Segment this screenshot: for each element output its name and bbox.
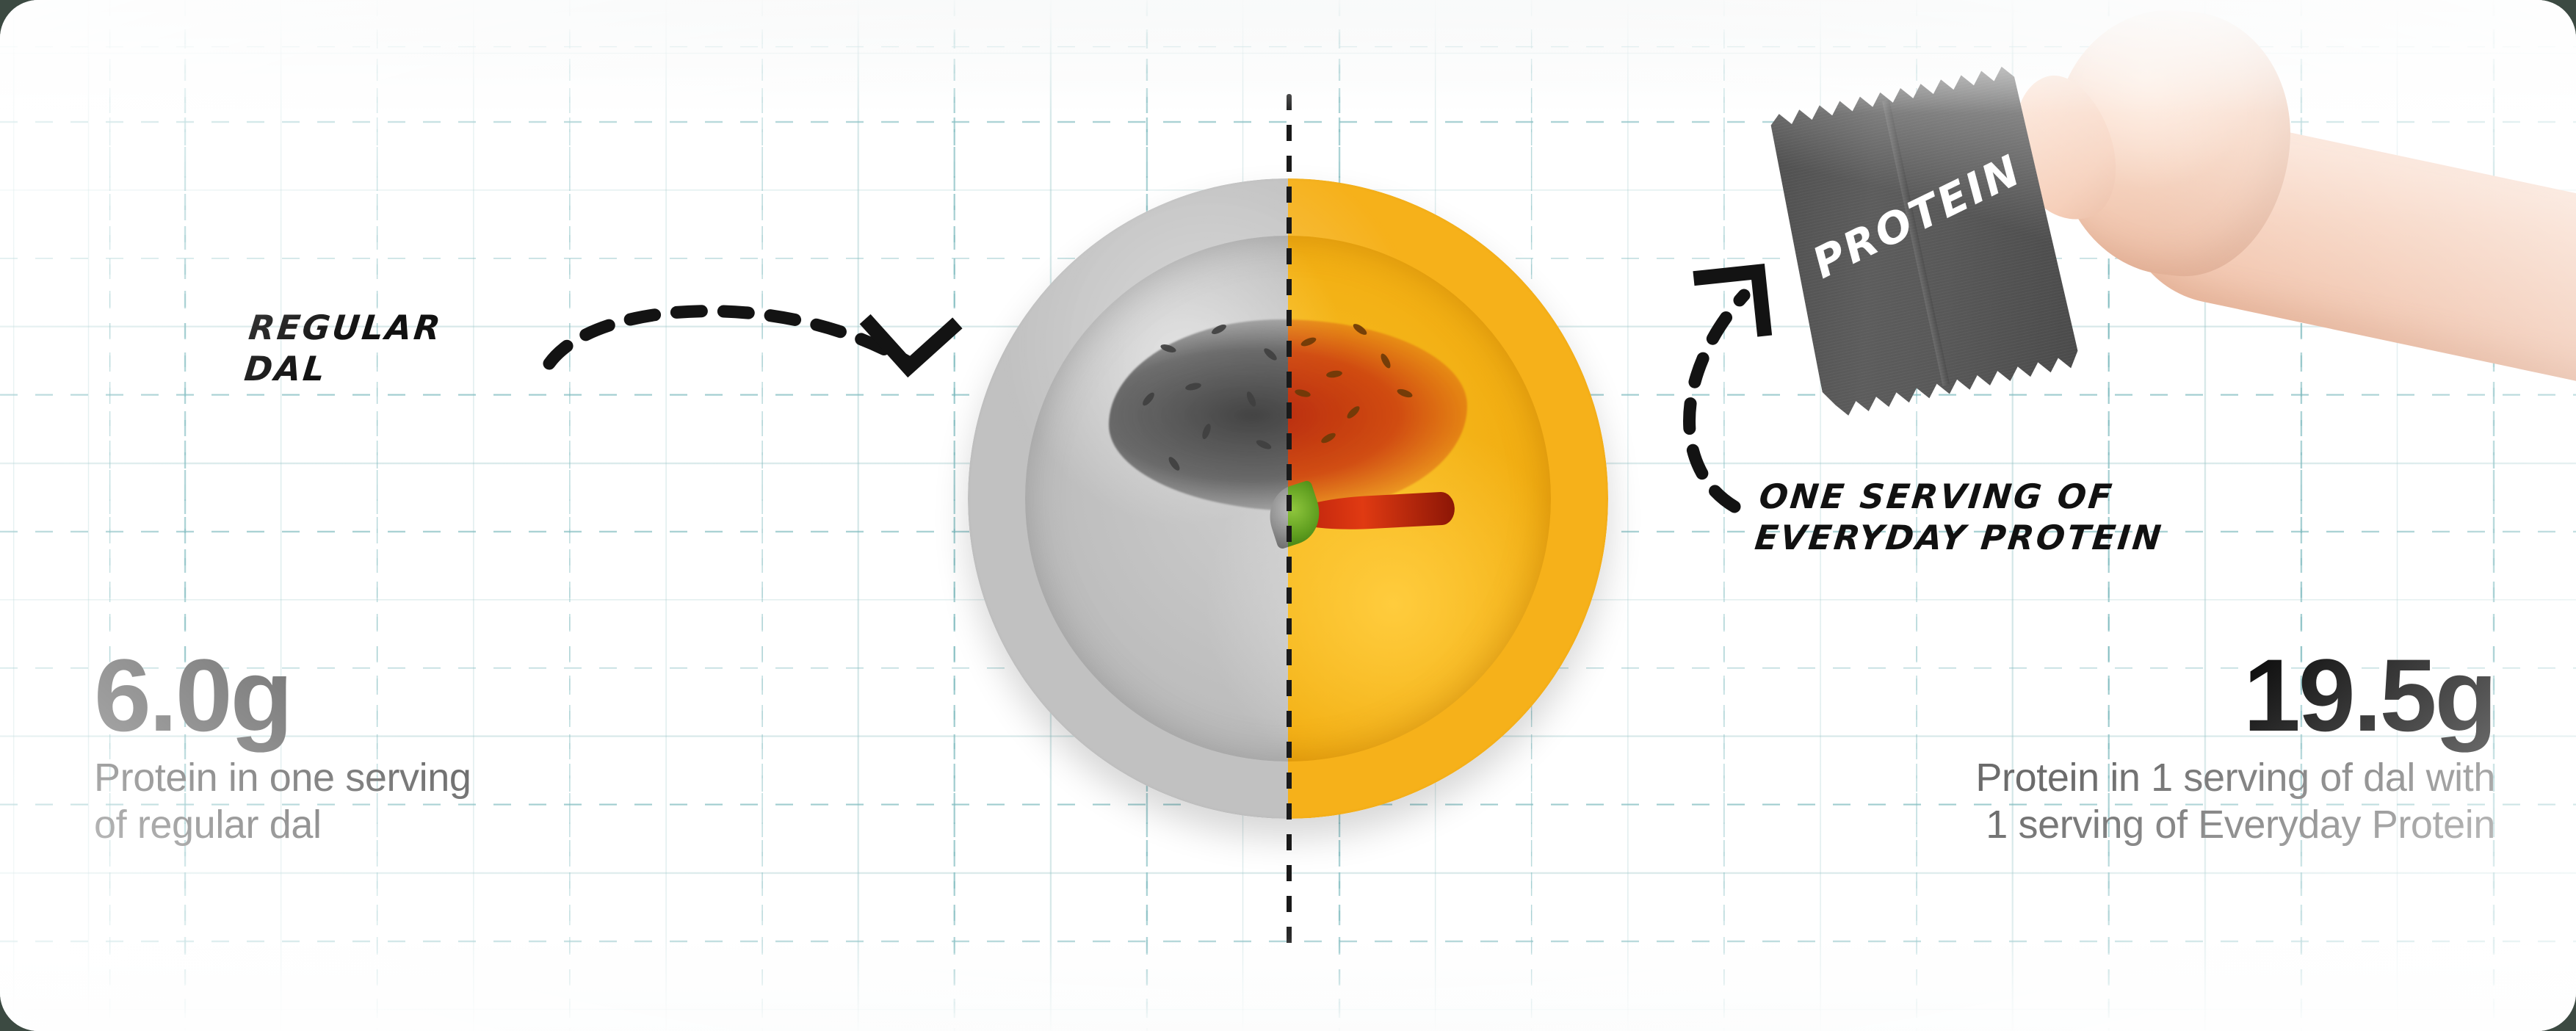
bowl-half-grayscale [968, 178, 1288, 819]
vertical-dashed-divider-icon [1287, 94, 1292, 947]
stat-dal-with-protein: 19.5g Protein in 1 serving of dal with 1… [1975, 646, 2495, 849]
infographic-canvas: PROTEIN REGULAR DAL ONE SERVING OF EVERY… [0, 0, 2576, 1031]
stat-regular-dal: 6.0g Protein in one serving of regular d… [94, 646, 471, 849]
bowl-half-colour [1288, 178, 1608, 819]
stat-value-left: 6.0g [94, 646, 471, 745]
handwritten-label-regular-dal: REGULAR DAL [242, 307, 444, 389]
stat-caption-left: Protein in one serving of regular dal [94, 755, 471, 848]
dashed-curved-arrow-right-icon [543, 294, 984, 477]
stat-caption-right: Protein in 1 serving of dal with 1 servi… [1975, 755, 2495, 848]
stat-value-right: 19.5g [1975, 646, 2495, 745]
handwritten-label-everyday-protein: ONE SERVING OF EVERYDAY PROTEIN [1753, 476, 2169, 558]
hand-holding-protein-sachet: PROTEIN [1748, 0, 2576, 451]
